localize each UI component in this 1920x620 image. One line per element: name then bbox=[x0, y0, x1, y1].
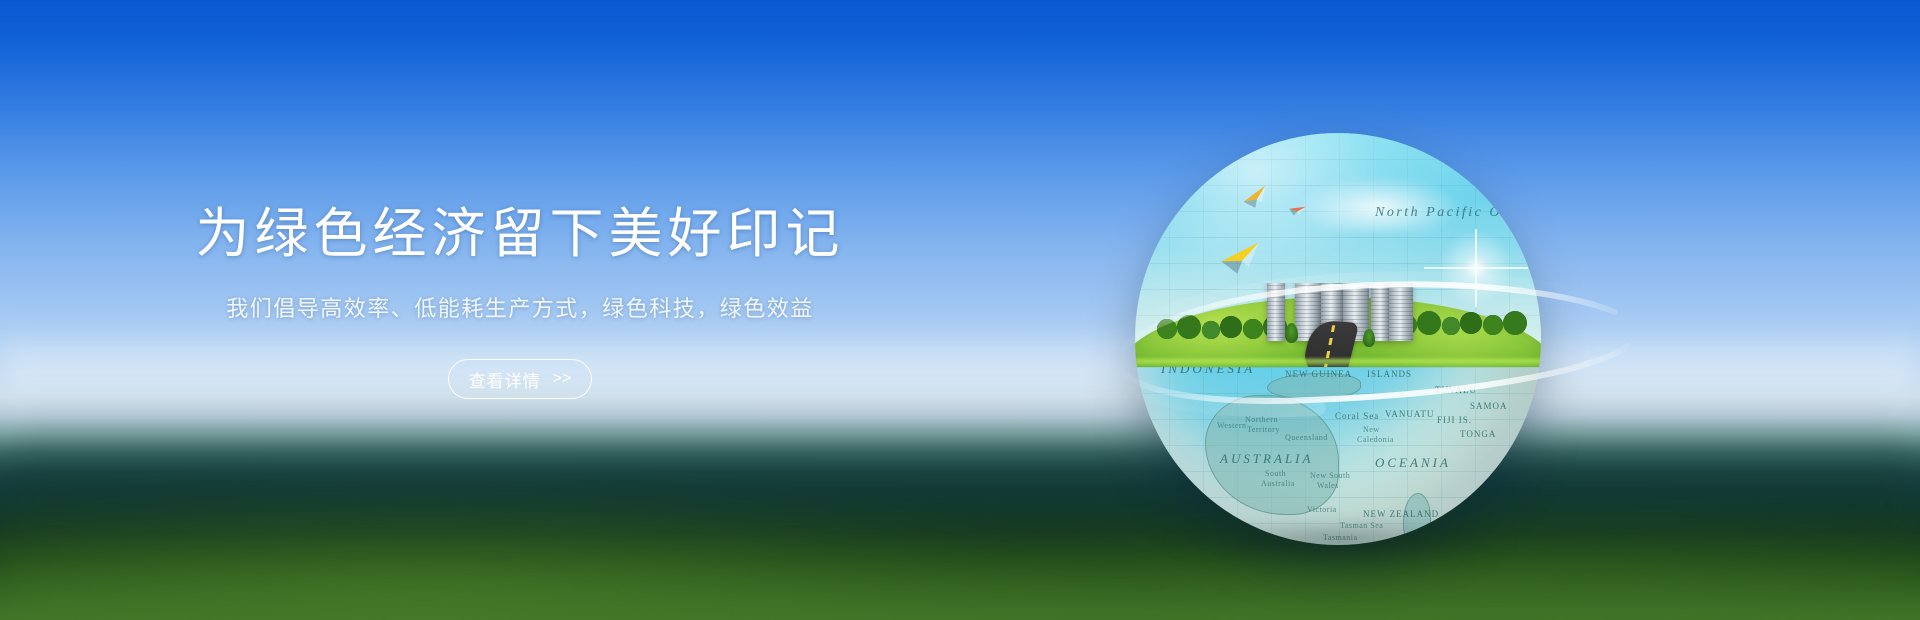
globe-illustration: INDONESIAPAPUANEW GUINEASOLOMONISLANDSTU… bbox=[1135, 133, 1541, 545]
page-title: 为绿色经济留下美好印记 bbox=[196, 201, 845, 269]
paper-plane-icon bbox=[1241, 185, 1271, 210]
globe-sphere: INDONESIAPAPUANEW GUINEASOLOMONISLANDSTU… bbox=[1135, 133, 1541, 545]
hero-banner: INDONESIAPAPUANEW GUINEASOLOMONISLANDSTU… bbox=[0, 0, 1920, 620]
paper-plane-icon bbox=[1219, 242, 1263, 275]
paper-plane-icon bbox=[1288, 203, 1306, 217]
view-details-button[interactable]: 查看详情 >> bbox=[448, 359, 593, 399]
banner-copy: 为绿色经济留下美好印记 我们倡导高效率、低能耗生产方式，绿色科技，绿色效益 查看… bbox=[0, 0, 1040, 620]
view-details-label: 查看详情 bbox=[469, 367, 541, 392]
paper-planes bbox=[1135, 133, 1541, 545]
subtitle: 我们倡导高效率、低能耗生产方式，绿色科技，绿色效益 bbox=[226, 294, 814, 325]
chevron-right-icon: >> bbox=[553, 371, 572, 387]
